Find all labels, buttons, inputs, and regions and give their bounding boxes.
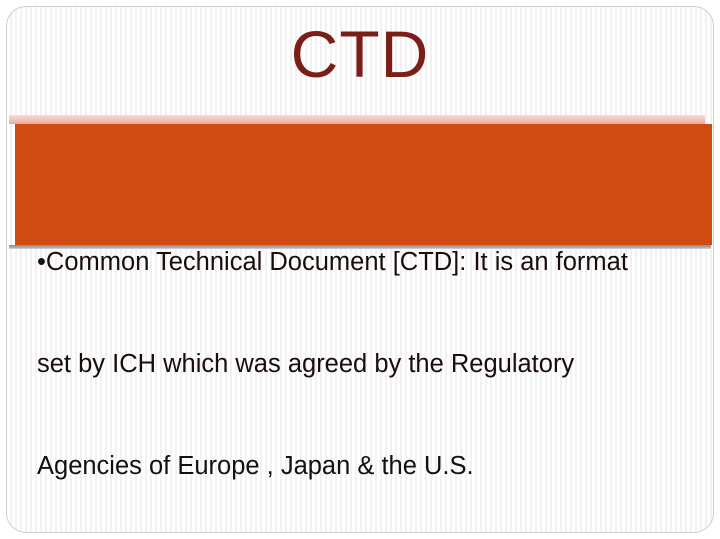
body-line: Agencies of Europe , Japan & the U.S. xyxy=(37,449,705,483)
page-title: CTD xyxy=(7,21,713,87)
body-text-block: •Common Technical Document [CTD]: It is … xyxy=(37,177,705,533)
slide-card: CTD •Common Technical Document [CTD]: It… xyxy=(6,6,714,533)
body-line: •Common Technical Document [CTD]: It is … xyxy=(37,245,705,279)
slide-canvas: CTD •Common Technical Document [CTD]: It… xyxy=(0,0,720,539)
body-line: set by ICH which was agreed by the Regul… xyxy=(37,347,705,381)
title-zone: CTD xyxy=(7,7,713,113)
accent-stripe xyxy=(9,115,705,124)
